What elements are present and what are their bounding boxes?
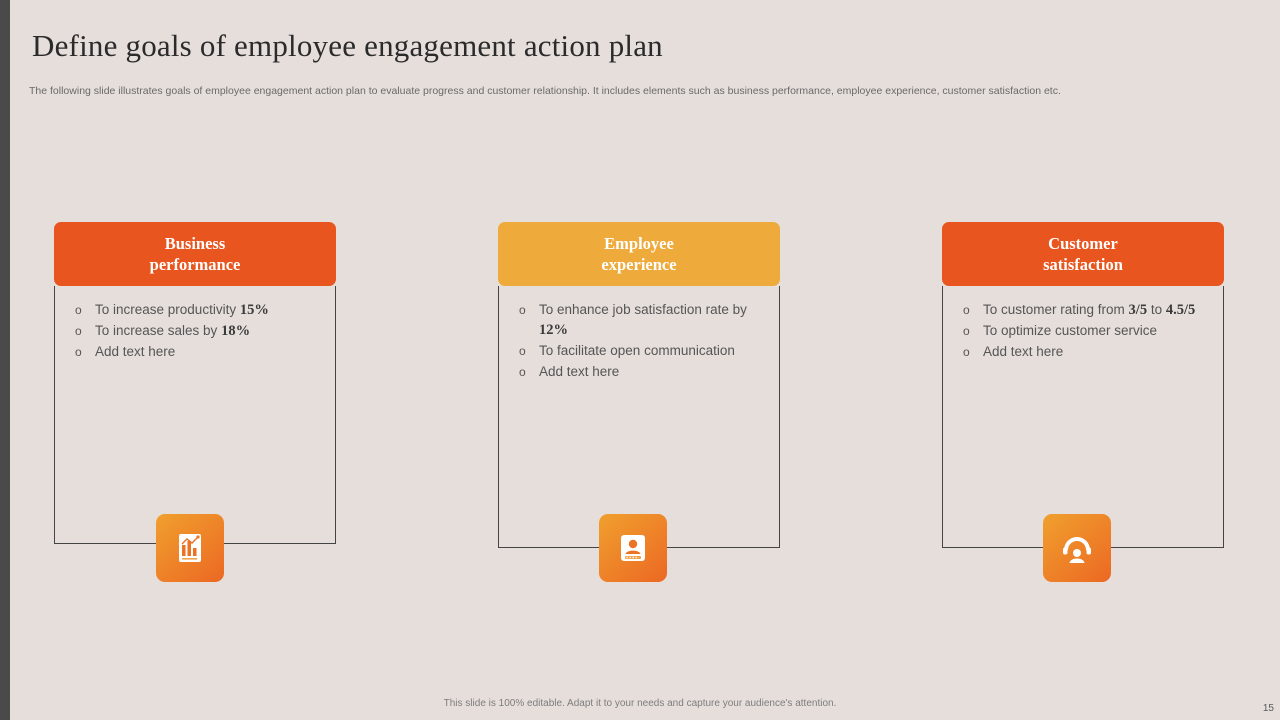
card-title-line1: Customer	[1048, 233, 1118, 254]
bullet-text: To facilitate open communication	[539, 343, 735, 358]
card-header: Employee experience	[498, 222, 780, 286]
user-profile-icon	[599, 514, 667, 582]
footer-note: This slide is 100% editable. Adapt it to…	[0, 698, 1280, 709]
card-title-line1: Business	[165, 233, 226, 254]
card-title-line2: performance	[150, 254, 241, 275]
left-accent-bar	[0, 0, 10, 720]
customer-support-icon	[1043, 514, 1111, 582]
card-title-line1: Employee	[604, 233, 674, 254]
bullet-highlight: 18%	[221, 323, 250, 339]
list-item: To facilitate open communication	[519, 341, 767, 361]
page-number: 15	[1263, 703, 1274, 714]
bullet-text: Add text here	[95, 344, 175, 359]
page-title: Define goals of employee engagement acti…	[32, 28, 663, 64]
card-body: To customer rating from 3/5 to 4.5/5 To …	[942, 286, 1224, 548]
bullet-text: To optimize customer service	[983, 323, 1157, 338]
bullet-text: To increase sales by	[95, 323, 221, 338]
list-item: To increase sales by 18%	[75, 321, 323, 341]
bullet-list: To enhance job satisfaction rate by 12% …	[499, 286, 779, 382]
slide-subtitle: The following slide illustrates goals of…	[29, 84, 1239, 98]
list-item: Add text here	[75, 342, 323, 362]
card-header: Business performance	[54, 222, 336, 286]
bullet-list: To increase productivity 15% To increase…	[55, 286, 335, 362]
list-item: To optimize customer service	[963, 321, 1211, 341]
card-title-line2: experience	[601, 254, 676, 275]
bar-chart-report-icon	[156, 514, 224, 582]
bullet-text: To enhance job satisfaction rate by	[539, 302, 747, 317]
card-body: To increase productivity 15% To increase…	[54, 286, 336, 544]
card-title-line2: satisfaction	[1043, 254, 1123, 275]
bullet-text: Add text here	[539, 364, 619, 379]
bullet-list: To customer rating from 3/5 to 4.5/5 To …	[943, 286, 1223, 362]
bullet-highlight: 4.5/5	[1166, 302, 1195, 318]
list-item: To customer rating from 3/5 to 4.5/5	[963, 300, 1211, 320]
card-body: To enhance job satisfaction rate by 12% …	[498, 286, 780, 548]
card-employee-experience: Employee experience To enhance job satis…	[498, 222, 780, 548]
list-item: Add text here	[519, 362, 767, 382]
card-business-performance: Business performance To increase product…	[54, 222, 336, 544]
list-item: To increase productivity 15%	[75, 300, 323, 320]
card-header: Customer satisfaction	[942, 222, 1224, 286]
bullet-text: To customer rating from	[983, 302, 1129, 317]
bullet-text: Add text here	[983, 344, 1063, 359]
bullet-text: to	[1147, 302, 1166, 317]
bullet-text: To increase productivity	[95, 302, 240, 317]
bullet-highlight: 3/5	[1129, 302, 1148, 318]
card-customer-satisfaction: Customer satisfaction To customer rating…	[942, 222, 1224, 548]
list-item: Add text here	[963, 342, 1211, 362]
list-item: To enhance job satisfaction rate by 12%	[519, 300, 767, 340]
bullet-highlight: 15%	[240, 302, 269, 318]
bullet-highlight: 12%	[539, 322, 568, 338]
